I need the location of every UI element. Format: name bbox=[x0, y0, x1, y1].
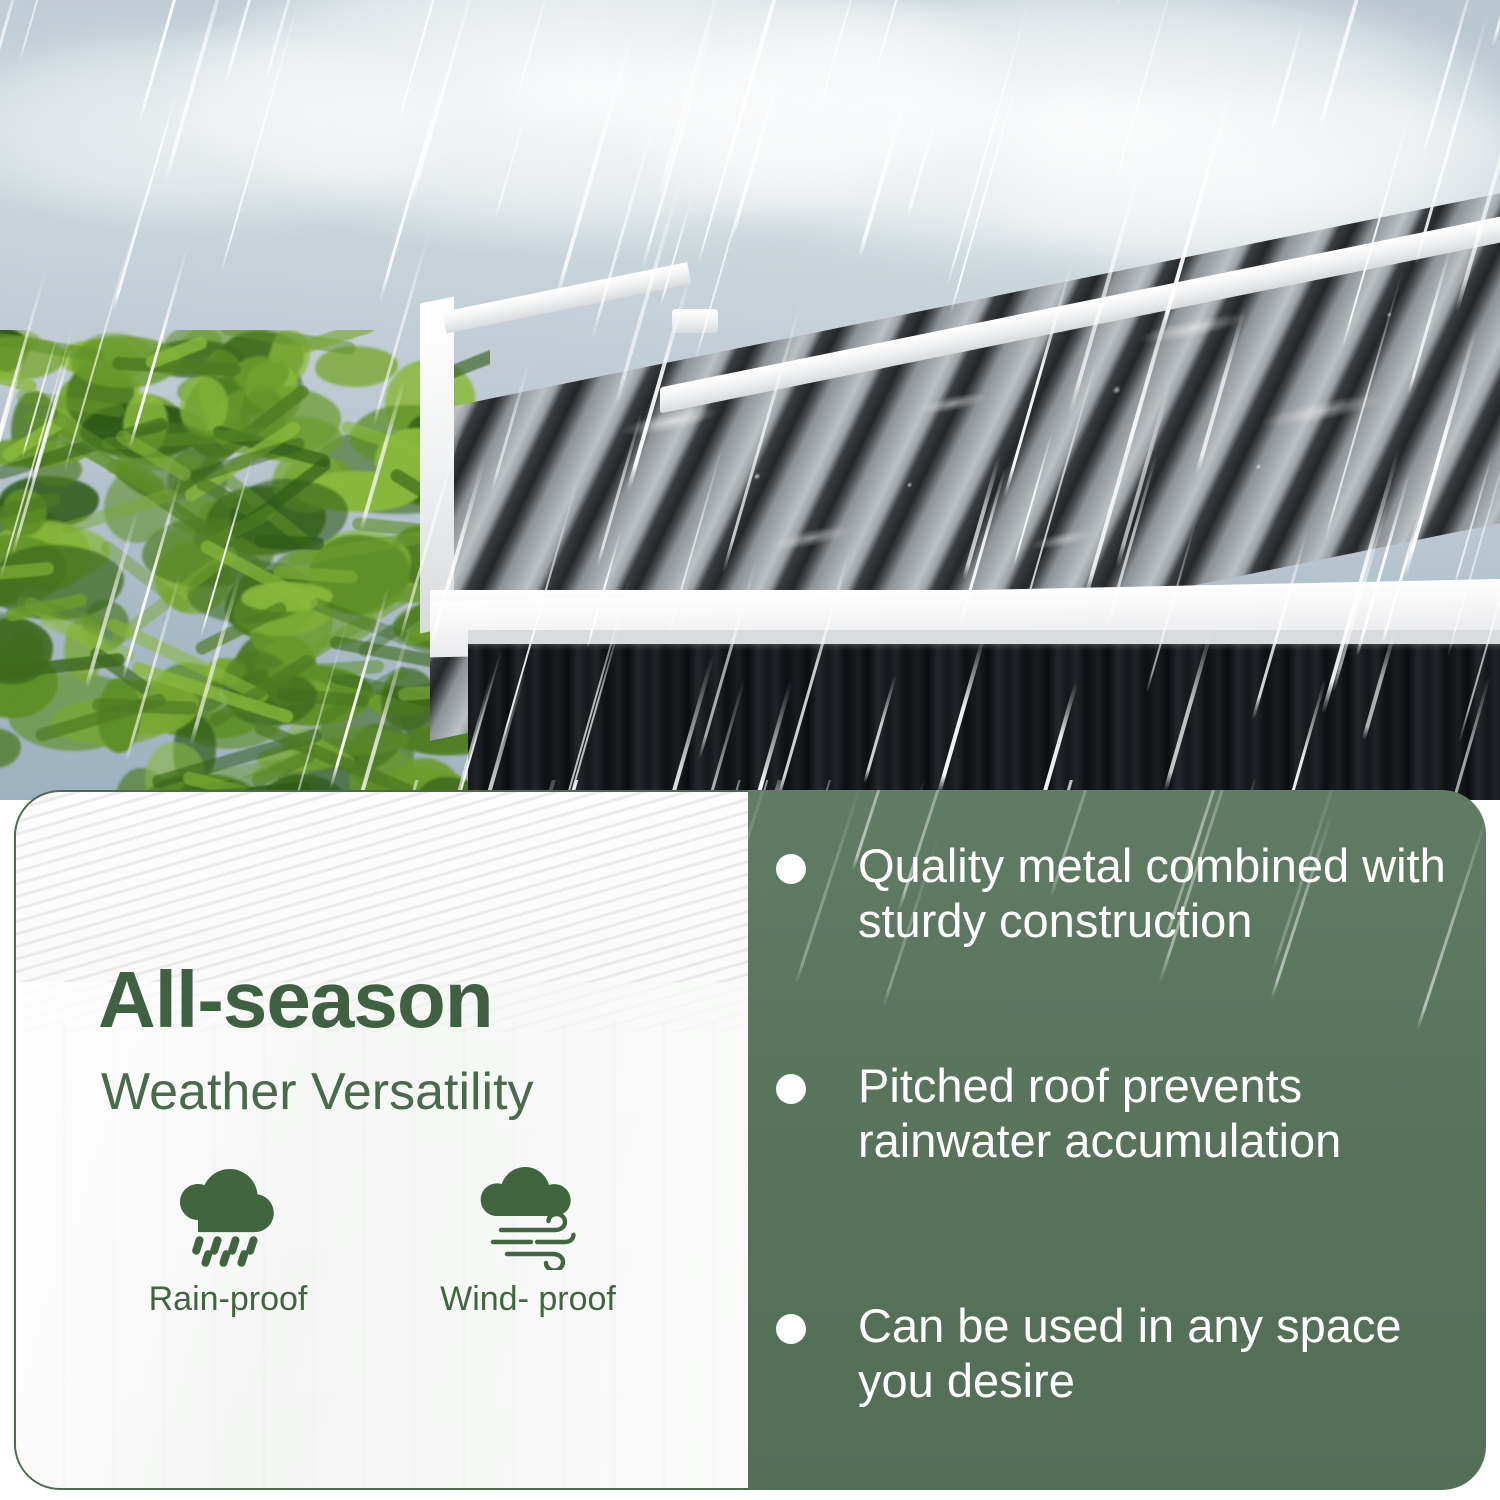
left-panel: All-season Weather Versatility bbox=[14, 790, 756, 1490]
list-item-label: Can be used in any space you desire bbox=[858, 1298, 1476, 1409]
rain-cloud-icon bbox=[168, 1160, 288, 1270]
product-feature-banner: All-season Weather Versatility bbox=[0, 0, 1500, 1500]
rain-streak bbox=[1185, 790, 1241, 873]
rain-streak bbox=[748, 790, 776, 1007]
feature-rain-proof: Rain-proof bbox=[78, 1160, 378, 1316]
rain-streak bbox=[1158, 790, 1254, 984]
right-panel: Quality metal combined with sturdy const… bbox=[748, 790, 1486, 1490]
rain-streak bbox=[882, 834, 941, 1007]
feature-wind-proof: Wind- proof bbox=[378, 1160, 678, 1316]
shed-wall bbox=[468, 640, 1500, 800]
bullet-dot-icon bbox=[776, 1314, 806, 1344]
list-item-label: Pitched roof prevents rainwater accumula… bbox=[858, 1058, 1476, 1169]
feature-label: Rain-proof bbox=[149, 1282, 308, 1316]
rain-streak bbox=[1164, 820, 1206, 941]
metal-shed bbox=[0, 0, 1500, 800]
rain-streak bbox=[1270, 811, 1334, 999]
headline: All-season bbox=[98, 960, 493, 1040]
subheadline: Weather Versatility bbox=[101, 1066, 534, 1118]
hero-photo bbox=[0, 0, 1500, 800]
rain-streak bbox=[1049, 790, 1114, 898]
feature-icon-row: Rain-proof bbox=[78, 1160, 678, 1316]
wind-cloud-icon bbox=[463, 1160, 593, 1270]
bullet-dot-icon bbox=[776, 1074, 806, 1104]
feature-label: Wind- proof bbox=[440, 1282, 616, 1316]
rain-streak bbox=[795, 790, 864, 984]
roof-rake-trim bbox=[420, 297, 454, 634]
rain-streak bbox=[1416, 811, 1486, 1031]
wall-cap bbox=[468, 630, 1500, 644]
list-item: Can be used in any space you desire bbox=[776, 1298, 1476, 1409]
roof-edge-trim bbox=[442, 262, 691, 333]
rain-streak bbox=[851, 790, 903, 871]
ridge-cap bbox=[672, 309, 718, 333]
rain-overlay-panel bbox=[748, 790, 1486, 1040]
feature-card: All-season Weather Versatility bbox=[14, 790, 1486, 1490]
list-item: Pitched roof prevents rainwater accumula… bbox=[776, 1058, 1476, 1169]
